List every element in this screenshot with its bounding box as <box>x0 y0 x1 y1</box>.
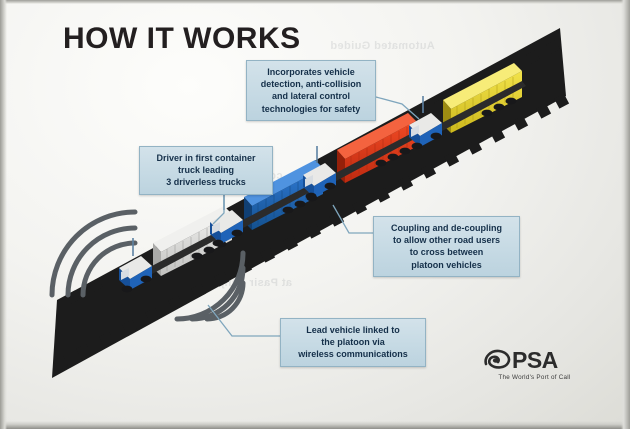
callout-detection-line-4: technologies for safety <box>253 103 369 115</box>
psa-logo-tagline: The World's Port of Call <box>482 374 587 381</box>
callout-detection: Incorporates vehicle detection, anti-col… <box>246 60 376 121</box>
callout-driver: Driver in first container truck leading … <box>139 146 273 195</box>
callout-lead-line-3: wireless communications <box>287 348 419 360</box>
callout-detection-line-2: detection, anti-collision <box>253 78 369 90</box>
callout-detection-line-3: and lateral control <box>253 90 369 102</box>
psa-swirl-icon <box>482 348 512 372</box>
callout-lead-line-2: the platoon via <box>287 336 419 348</box>
psa-logo-text: PSA <box>512 349 558 372</box>
callout-coupling-line-2: to allow other road users <box>380 234 513 246</box>
callout-detection-line-1: Incorporates vehicle <box>253 66 369 78</box>
callout-coupling-line-1: Coupling and de-coupling <box>380 222 513 234</box>
callout-coupling-line-4: platoon vehicles <box>380 259 513 271</box>
psa-logo: PSA The World's Port of Call <box>482 348 587 381</box>
poster-photograph: Automated Guided container terminal at P… <box>0 0 630 429</box>
callout-driver-line-3: 3 driverless trucks <box>146 176 266 188</box>
callout-driver-line-2: truck leading <box>146 164 266 176</box>
callout-coupling: Coupling and de-coupling to allow other … <box>373 216 520 277</box>
callout-lead-line-1: Lead vehicle linked to <box>287 324 419 336</box>
callout-lead: Lead vehicle linked to the platoon via w… <box>280 318 426 367</box>
callout-coupling-line-3: to cross between <box>380 246 513 258</box>
callout-driver-line-1: Driver in first container <box>146 152 266 164</box>
page-title: HOW IT WORKS <box>63 22 301 56</box>
